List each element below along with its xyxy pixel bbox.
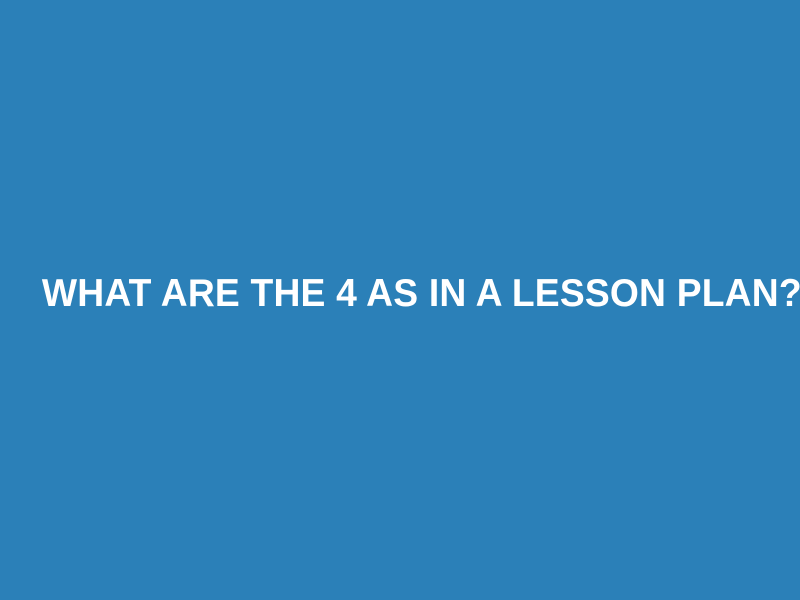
headline-container: WHAT ARE THE 4 AS IN A LESSON PLAN?: [0, 272, 800, 316]
page-title: WHAT ARE THE 4 AS IN A LESSON PLAN?: [42, 272, 800, 316]
title-card: WHAT ARE THE 4 AS IN A LESSON PLAN?: [0, 0, 800, 600]
